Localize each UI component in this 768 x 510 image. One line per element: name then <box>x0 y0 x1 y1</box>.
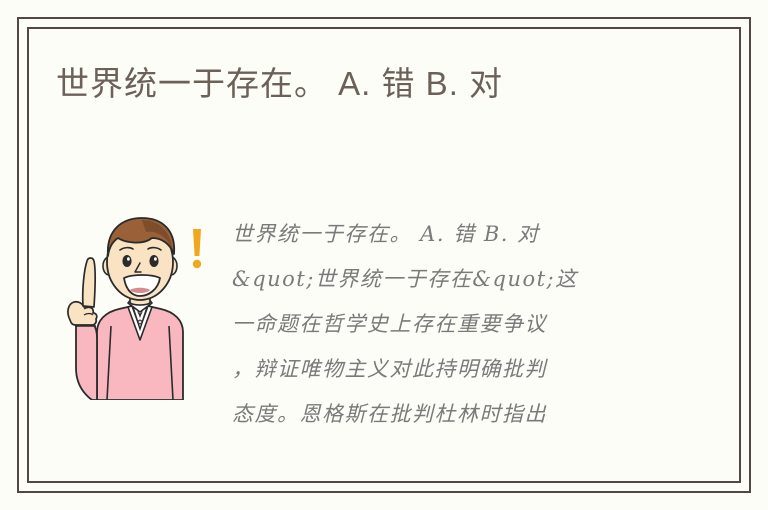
body-line: &quot;世界统一于存在&quot;这 <box>232 257 662 302</box>
content-area: 世界统一于存在。 A. 错 B. 对 &quot;世界统一于存在&quot;这 … <box>56 200 712 430</box>
body-text: 世界统一于存在。 A. 错 B. 对 &quot;世界统一于存在&quot;这 … <box>232 212 662 437</box>
pointing-man-illustration <box>62 208 218 400</box>
body-line: 态度。恩格斯在批判杜林时指出 <box>232 392 662 437</box>
body-line: 一命题在哲学史上存在重要争议 <box>232 302 662 347</box>
body-line: ，辩证唯物主义对此持明确批判 <box>232 347 662 392</box>
exclamation-icon <box>193 229 201 268</box>
body-line: 世界统一于存在。 A. 错 B. 对 <box>232 212 662 257</box>
page-title: 世界统一于存在。 A. 错 B. 对 <box>56 62 716 106</box>
page-root: 世界统一于存在。 A. 错 B. 对 <box>0 0 768 510</box>
